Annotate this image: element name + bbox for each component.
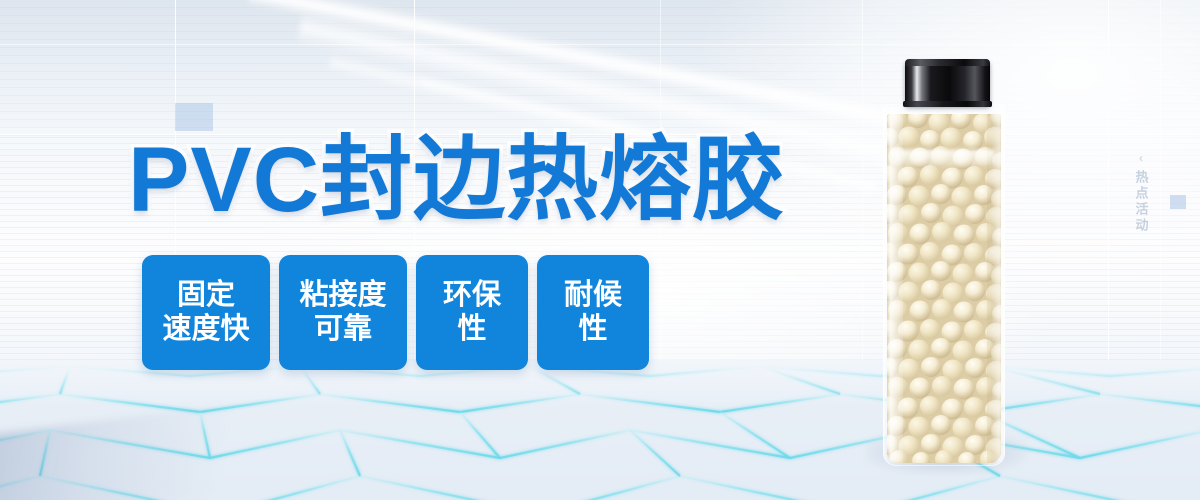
wall-seam-horizontal [0, 44, 1200, 45]
feature-tag-list: 固定 速度快 粘接度 可靠 环保性 耐候性 [142, 255, 649, 370]
bottle-cap [905, 60, 990, 106]
feature-tag-eco-friendly[interactable]: 环保性 [416, 255, 528, 370]
banner-headline: PVC封边热熔胶 [128, 134, 785, 226]
chevron-left-icon[interactable]: ‹ [1139, 152, 1143, 164]
adhesive-pellets [887, 114, 1001, 463]
feature-tag-weather-resistant[interactable]: 耐候性 [537, 255, 649, 370]
promo-banner: PVC封边热熔胶 固定 速度快 粘接度 可靠 环保性 耐候性 ‹ 热点活动 [0, 0, 1200, 500]
wall-seam [1160, 0, 1161, 392]
side-nav-hot-activities[interactable]: ‹ 热点活动 [1124, 152, 1158, 234]
bottle-cap-top [905, 59, 990, 66]
accent-panel [175, 103, 213, 131]
wall-seam [862, 0, 863, 392]
bottle-highlight-left [889, 106, 902, 462]
bottle-cap-rim [903, 101, 992, 107]
side-nav-label: 热点活动 [1135, 170, 1148, 234]
bottle-highlight-right [992, 106, 1001, 462]
feature-tag-fast-setting[interactable]: 固定 速度快 [142, 255, 270, 370]
product-bottle [883, 60, 1005, 466]
accent-panel [1170, 195, 1186, 209]
bottle-neck-highlight [893, 150, 995, 166]
wall-seam [1108, 0, 1109, 392]
feature-tag-reliable-adhesion[interactable]: 粘接度 可靠 [279, 255, 407, 370]
